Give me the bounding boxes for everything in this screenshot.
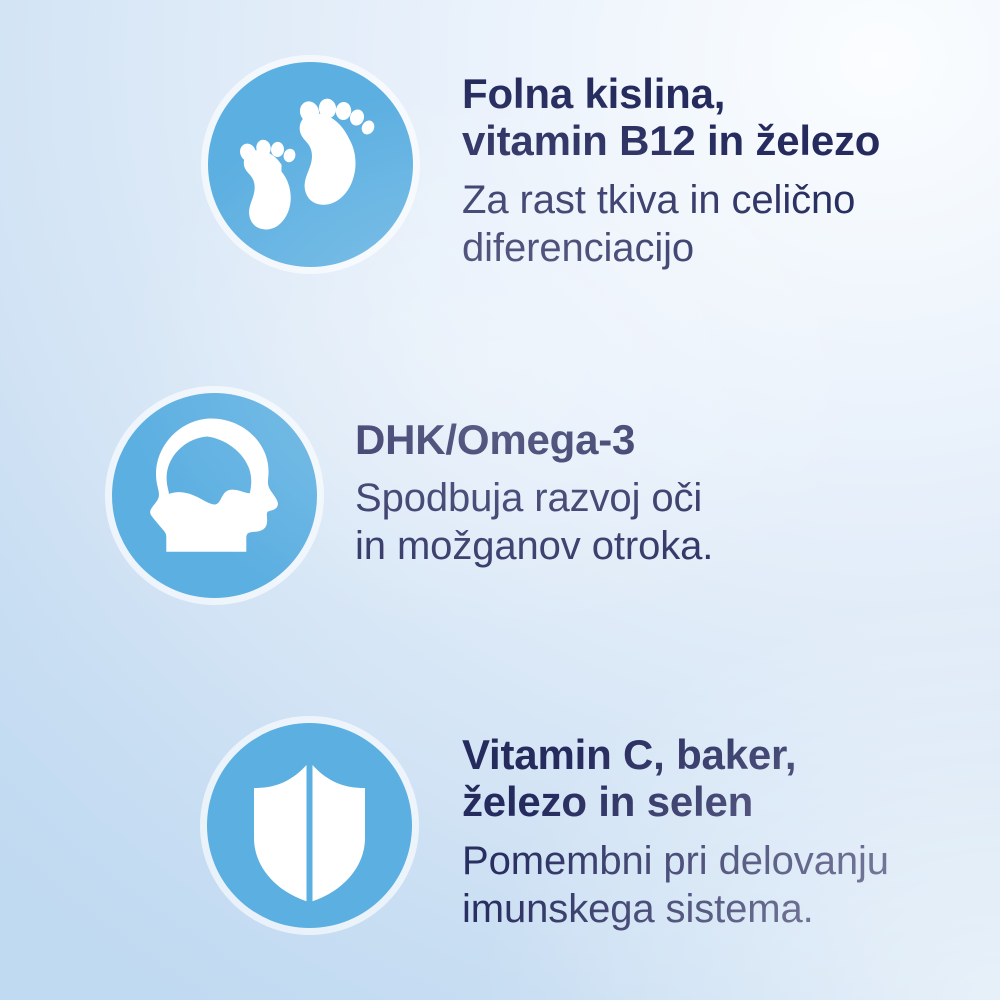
- benefits-infographic: Folna kislina, vitamin B12 in železo Za …: [0, 0, 1000, 1000]
- feature-row: Vitamin C, baker, železo in selen Pomemb…: [207, 723, 889, 933]
- shield-icon: [207, 723, 412, 928]
- feature-row: Folna kislina, vitamin B12 in železo Za …: [208, 62, 880, 272]
- feature-text: Folna kislina, vitamin B12 in železo Za …: [462, 62, 880, 272]
- feature-heading: Folna kislina, vitamin B12 in železo: [462, 70, 880, 164]
- feature-row: DHK/Omega-3 Spodbuja razvoj oči in možga…: [112, 393, 713, 598]
- icon-badge-dha-omega3: [112, 393, 317, 598]
- feature-body: Pomembni pri delovanju imunskega sistema…: [462, 837, 889, 933]
- head-brain-icon: [112, 393, 317, 598]
- feature-body: Spodbuja razvoj oči in možganov otroka.: [355, 474, 713, 570]
- icon-badge-immune-shield: [207, 723, 412, 928]
- feature-text: Vitamin C, baker, železo in selen Pomemb…: [462, 723, 889, 933]
- baby-footprints-icon: [208, 62, 413, 267]
- feature-heading: Vitamin C, baker, železo in selen: [462, 731, 889, 825]
- feature-body: Za rast tkiva in celično diferenciacijo: [462, 176, 880, 272]
- feature-text: DHK/Omega-3 Spodbuja razvoj oči in možga…: [355, 393, 713, 570]
- feature-heading: DHK/Omega-3: [355, 416, 713, 463]
- icon-badge-folic-acid: [208, 62, 413, 267]
